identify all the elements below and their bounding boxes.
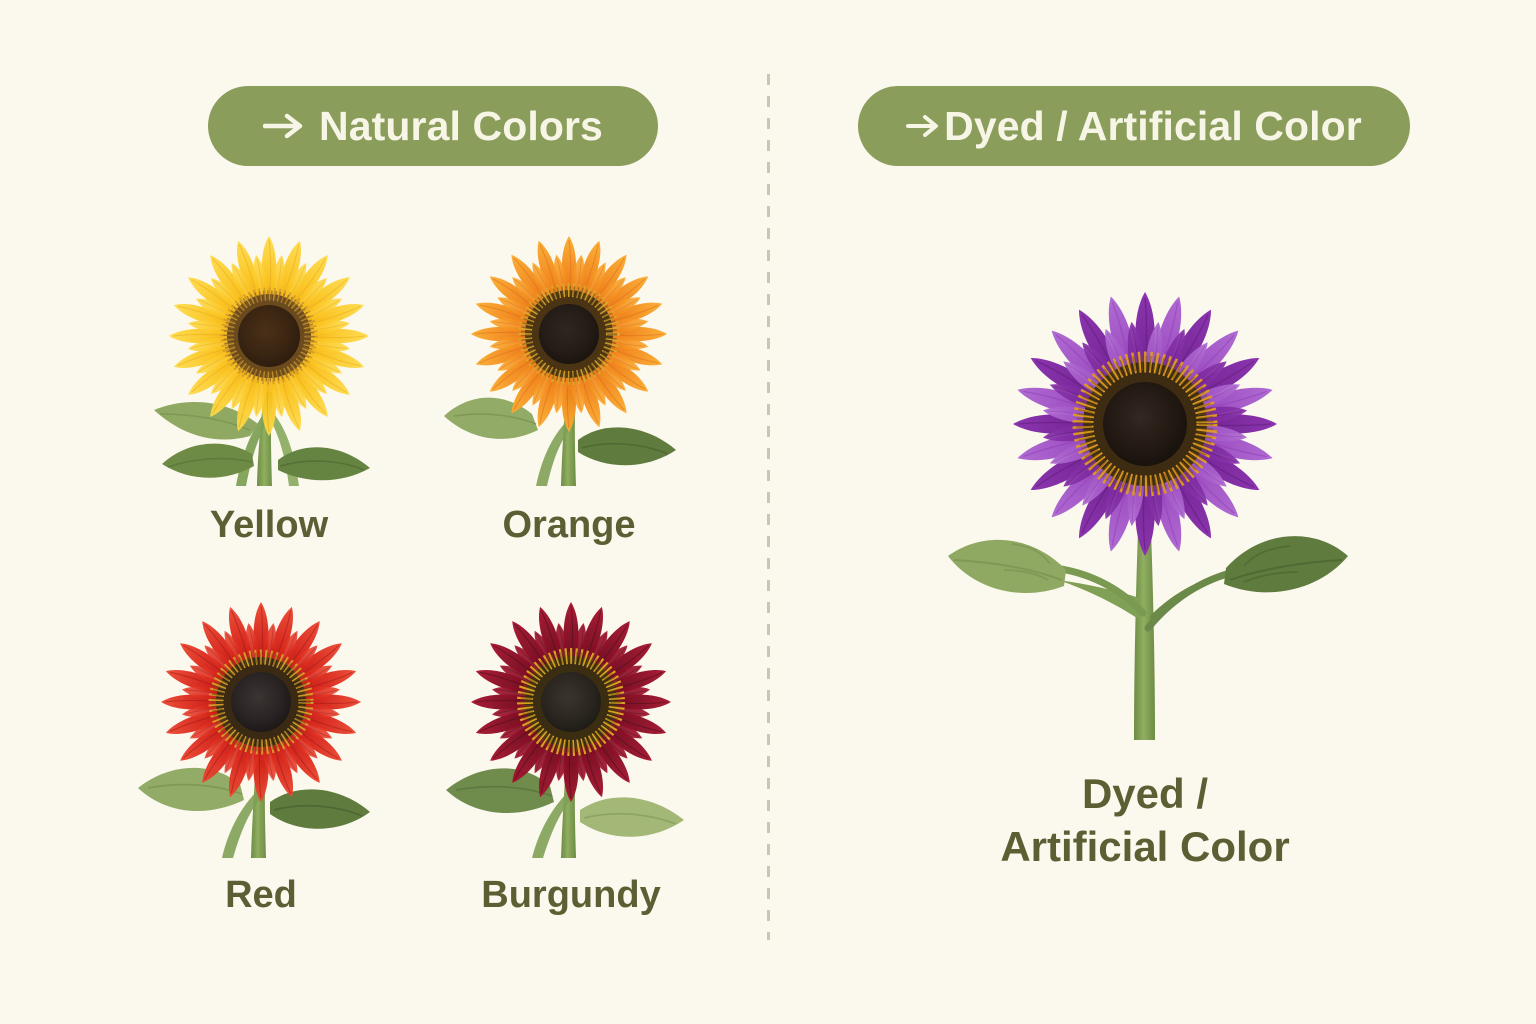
badge-natural-colors[interactable]: Natural Colors [208,86,658,166]
flower-card-burgundy[interactable]: Burgundy [438,588,704,917]
sunflower-dyed-purple-illustration [938,268,1352,740]
arrow-right-icon [263,111,305,141]
sunflower-red-illustration [128,588,394,858]
vertical-dashed-divider [767,74,770,940]
arrow-right-icon [906,111,940,141]
sunflower-yellow-illustration [140,224,398,486]
flower-label-burgundy: Burgundy [481,874,660,917]
flower-caption-dyed: Dyed / Artificial Color [1000,768,1289,873]
flower-card-dyed[interactable]: Dyed / Artificial Color [938,268,1352,873]
flower-label-red: Red [225,874,297,917]
infographic-canvas: Natural Colors Dyed / Artificial Color [0,0,1536,1024]
flower-label-yellow: Yellow [210,504,328,547]
flower-card-red[interactable]: Red [128,588,394,917]
badge-natural-label: Natural Colors [319,106,603,147]
flower-card-orange[interactable]: Orange [440,224,698,547]
badge-dyed-artificial[interactable]: Dyed / Artificial Color [858,86,1410,166]
badge-dyed-label: Dyed / Artificial Color [944,106,1362,147]
flower-label-orange: Orange [502,504,635,547]
sunflower-burgundy-illustration [438,588,704,858]
sunflower-orange-illustration [440,224,698,486]
flower-card-yellow[interactable]: Yellow [140,224,398,547]
